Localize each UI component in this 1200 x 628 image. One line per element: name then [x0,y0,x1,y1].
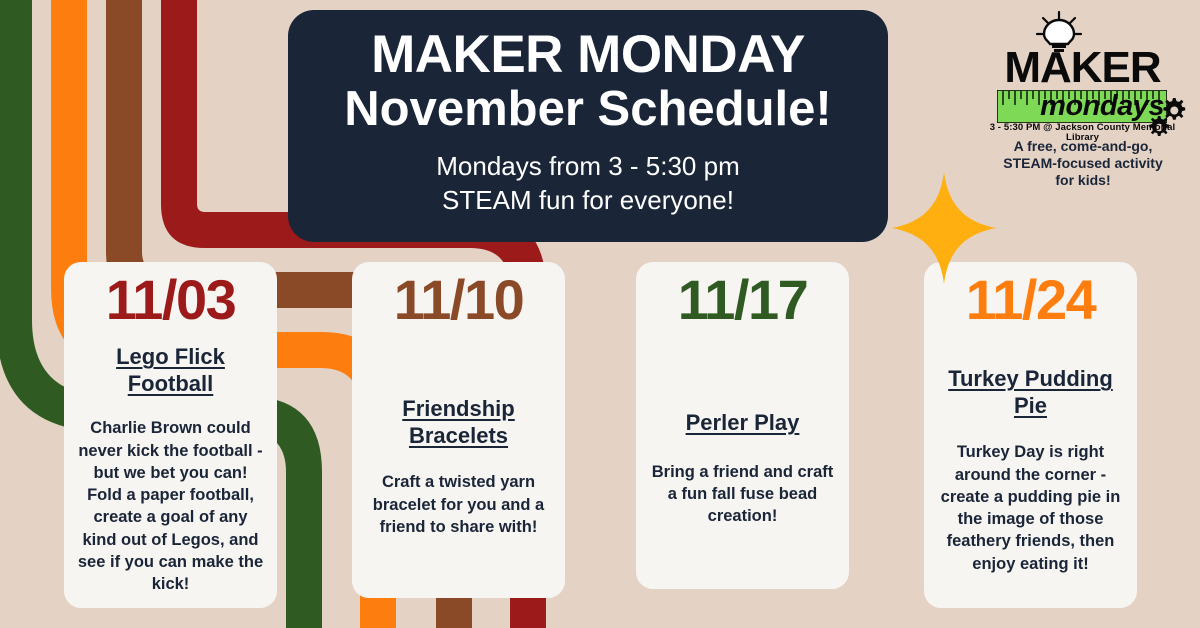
page-subtitle: November Schedule! [344,83,831,137]
event-card[interactable]: 11/10Friendship BraceletsCraft a twisted… [352,262,565,598]
event-date: 11/10 [394,270,524,330]
logo-tagline-line2: STEAM-focused activity [983,155,1183,172]
logo-tagline-line1: A free, come-and-go, [983,138,1183,155]
event-title: Friendship Bracelets [365,396,552,449]
logo-word-maker: MAKER [975,46,1190,90]
poster-canvas: MAKER MONDAY November Schedule! Mondays … [0,0,1200,628]
event-title: Turkey Pudding Pie [937,366,1124,419]
event-description: Bring a friend and craft a fun fall fuse… [649,461,836,528]
event-description: Turkey Day is right around the corner - … [937,441,1124,575]
event-card[interactable]: 11/24Turkey Pudding PieTurkey Day is rig… [924,262,1137,608]
logo-tagline: A free, come-and-go, STEAM-focused activ… [983,138,1183,189]
event-title: Perler Play [686,410,800,436]
four-point-star-icon [892,172,996,284]
event-card[interactable]: 11/03Lego Flick FootballCharlie Brown co… [64,262,277,608]
header-banner: MAKER MONDAY November Schedule! Mondays … [288,10,888,242]
logo-tagline-line3: for kids! [983,172,1183,189]
event-date: 11/17 [678,270,808,330]
event-date: 11/03 [106,270,236,330]
page-title: MAKER MONDAY [371,27,805,82]
event-description: Charlie Brown could never kick the footb… [77,417,264,595]
schedule-time-line: Mondays from 3 - 5:30 pm [436,149,739,183]
event-card[interactable]: 11/17Perler PlayBring a friend and craft… [636,262,849,589]
event-description: Craft a twisted yarn bracelet for you an… [365,471,552,538]
event-title: Lego Flick Football [77,344,264,397]
maker-mondays-logo: MAKER mondays [975,8,1190,188]
schedule-tagline: STEAM fun for everyone! [442,183,734,217]
